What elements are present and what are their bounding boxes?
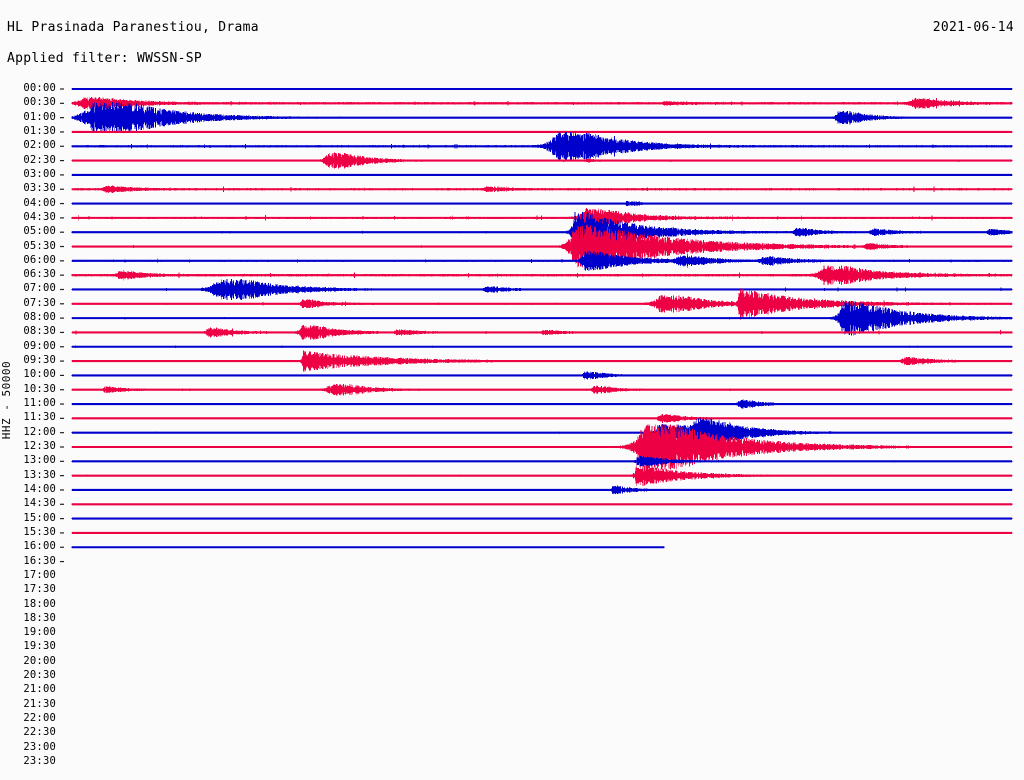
seismogram-plot — [0, 0, 1024, 780]
helicorder-page: HL Prasinada Paranestiou, Drama Applied … — [0, 0, 1024, 780]
